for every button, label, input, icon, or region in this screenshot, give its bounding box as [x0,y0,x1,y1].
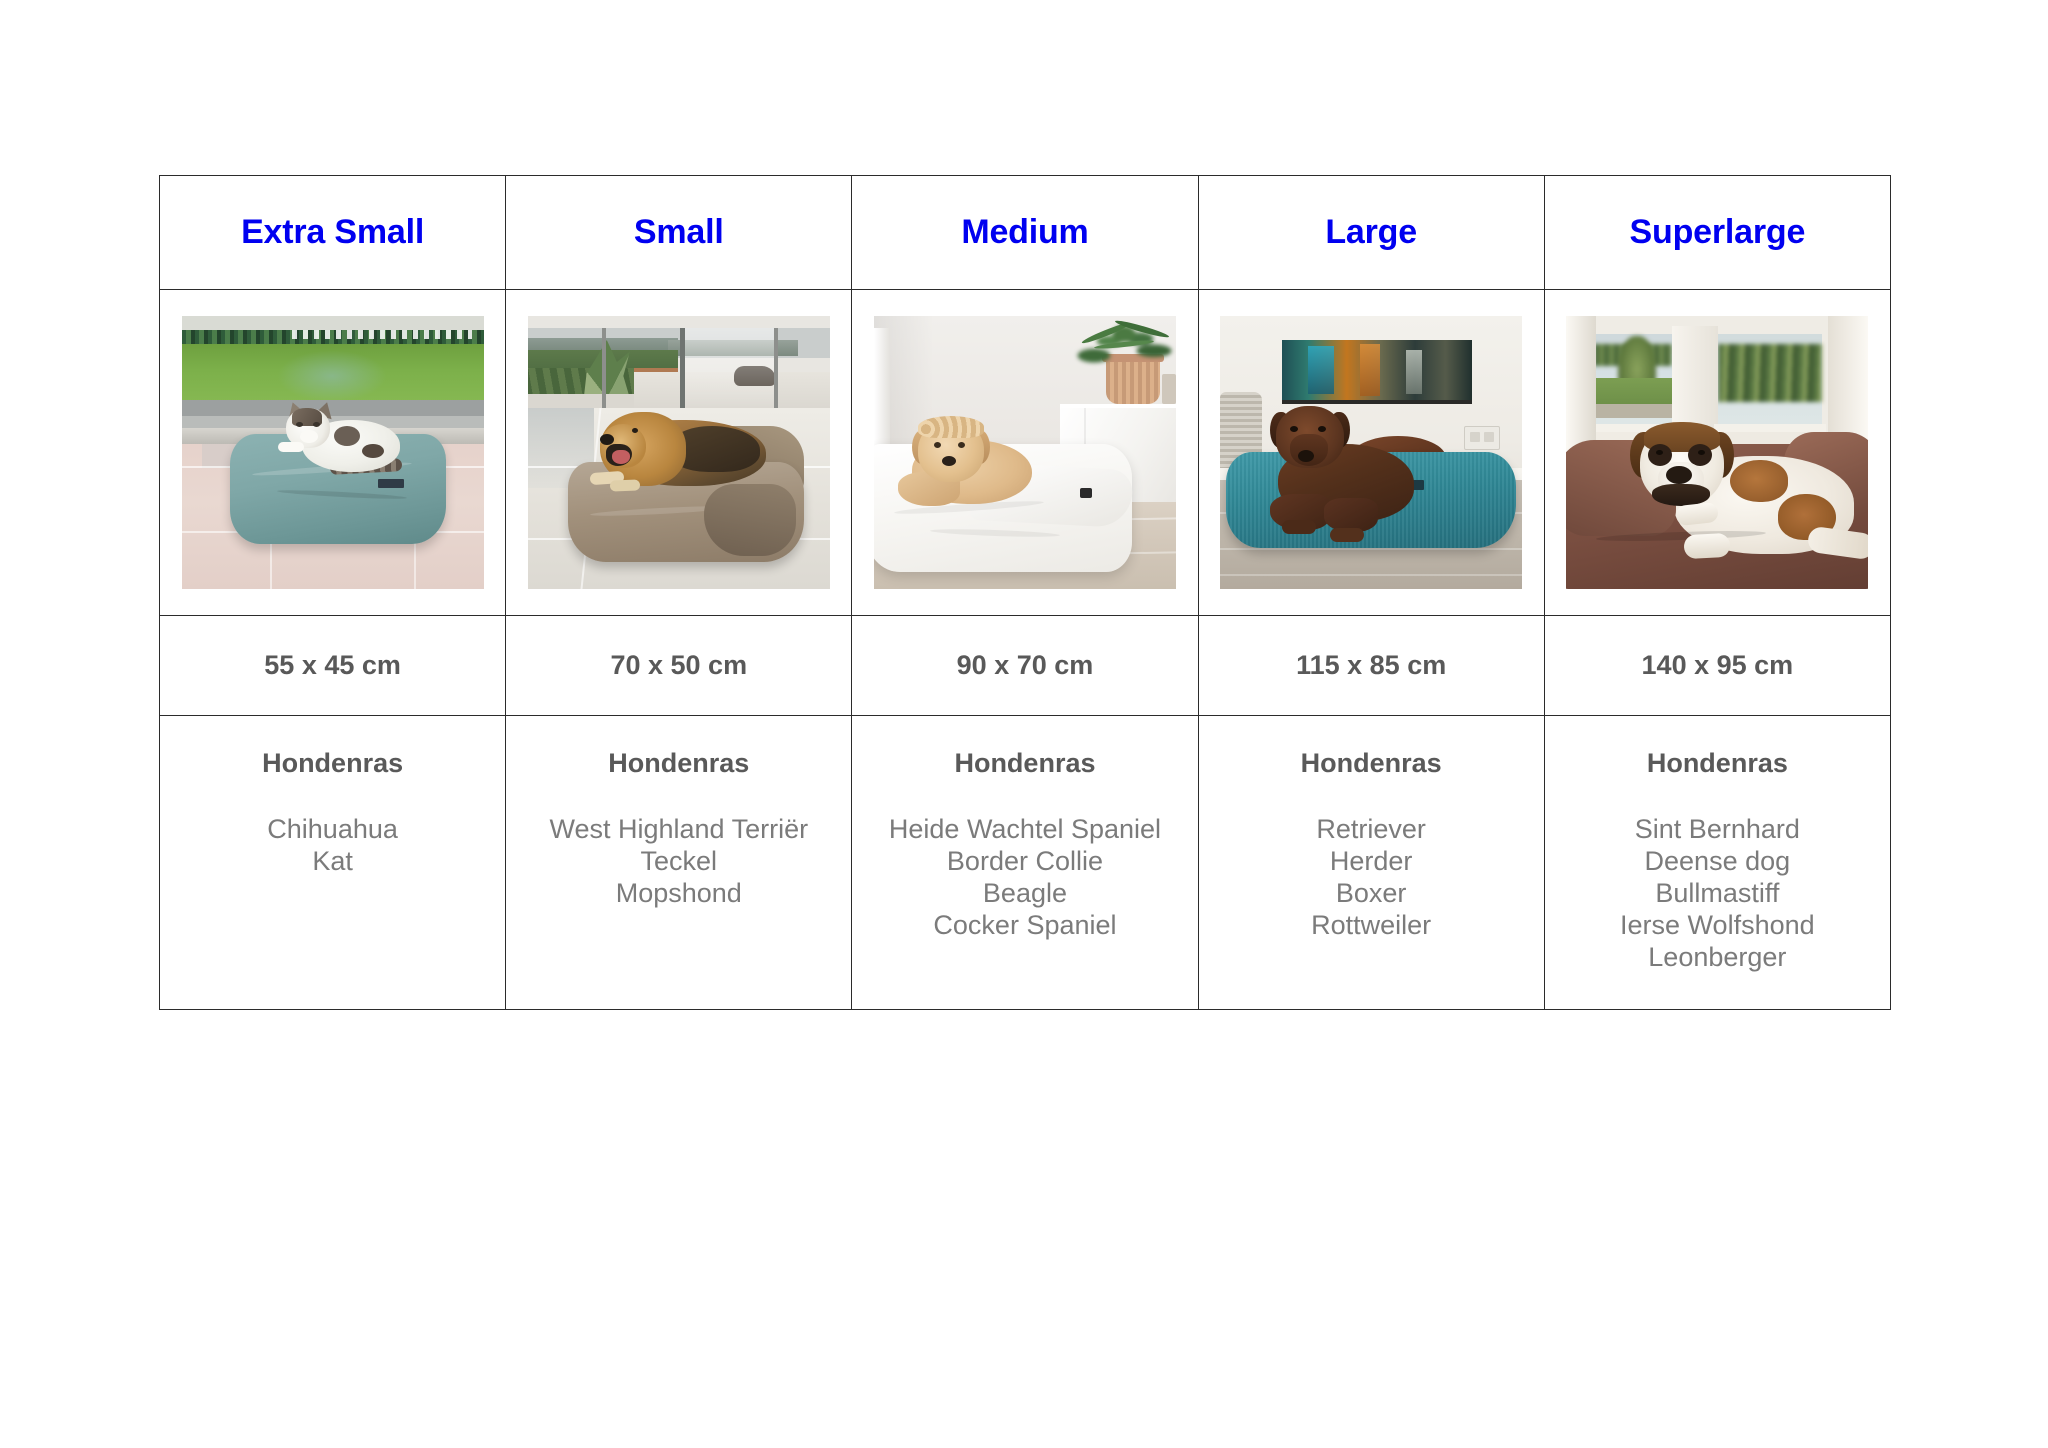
breeds-cell-small: Hondenras West Highland TerriërTeckelMop… [506,716,852,1010]
header-cell-inner: Small [506,176,851,289]
size-header-label: Extra Small [241,213,424,252]
breeds-cell-inner: Hondenras West Highland TerriërTeckelMop… [506,716,851,1009]
header-cell-large: Large [1198,176,1544,290]
dimension-cell-large: 115 x 85 cm [1198,616,1544,716]
breed-name: Rottweiler [1199,909,1544,941]
product-photo-large [1220,316,1522,589]
dimension-cell-small: 70 x 50 cm [506,616,852,716]
breeds-title: Hondenras [506,748,851,779]
header-cell-small: Small [506,176,852,290]
dimension-label: 70 x 50 cm [610,650,747,681]
breed-name: Sint Bernhard [1545,813,1890,845]
header-cell-extra-small: Extra Small [160,176,506,290]
breed-name: Chihuahua [160,813,505,845]
breed-name: Mopshond [506,877,851,909]
breed-list: ChihuahuaKat [160,813,505,877]
breeds-cell-superlarge: Hondenras Sint BernhardDeense dogBullmas… [1544,716,1890,1010]
breed-list: Heide Wachtel SpanielBorder CollieBeagle… [852,813,1197,941]
breeds-title: Hondenras [852,748,1197,779]
photo-cell-large [1198,290,1544,616]
dimension-cell-inner: 115 x 85 cm [1199,616,1544,715]
table-photo-row [160,290,1891,616]
breed-name: Heide Wachtel Spaniel [852,813,1197,845]
breeds-title: Hondenras [1199,748,1544,779]
breed-name: Retriever [1199,813,1544,845]
page-canvas: Extra Small Small Medium Large S [0,0,2048,1448]
breed-list: West Highland TerriërTeckelMopshond [506,813,851,909]
product-photo-extra-small [182,316,484,589]
size-header-label: Small [634,213,724,252]
breeds-cell-inner: Hondenras ChihuahuaKat [160,716,505,1009]
breeds-title: Hondenras [160,748,505,779]
dimension-cell-superlarge: 140 x 95 cm [1544,616,1890,716]
breed-name: Leonberger [1545,941,1890,973]
size-header-label: Large [1325,213,1417,252]
photo-cell-small [506,290,852,616]
breed-name: Boxer [1199,877,1544,909]
product-photo-small [528,316,830,589]
breeds-cell-extra-small: Hondenras ChihuahuaKat [160,716,506,1010]
dimension-cell-inner: 70 x 50 cm [506,616,851,715]
photo-cell-inner [506,290,851,615]
dimension-label: 90 x 70 cm [957,650,1094,681]
table-dimension-row: 55 x 45 cm 70 x 50 cm 90 x 70 cm 115 x 8… [160,616,1891,716]
dimension-cell-inner: 90 x 70 cm [852,616,1197,715]
dimension-label: 115 x 85 cm [1296,650,1446,681]
header-cell-inner: Large [1199,176,1544,289]
size-header-label: Medium [961,213,1088,252]
header-cell-inner: Superlarge [1545,176,1890,289]
photo-cell-inner [1199,290,1544,615]
breed-name: Kat [160,845,505,877]
breed-name: West Highland Terriër [506,813,851,845]
breed-name: Bullmastiff [1545,877,1890,909]
header-cell-inner: Medium [852,176,1197,289]
table-header-row: Extra Small Small Medium Large S [160,176,1891,290]
breed-name: Herder [1199,845,1544,877]
breeds-cell-inner: Hondenras Heide Wachtel SpanielBorder Co… [852,716,1197,1009]
breeds-cell-medium: Hondenras Heide Wachtel SpanielBorder Co… [852,716,1198,1010]
breed-name: Ierse Wolfshond [1545,909,1890,941]
photo-cell-medium [852,290,1198,616]
photo-cell-inner [160,290,505,615]
product-photo-superlarge [1566,316,1868,589]
photo-cell-superlarge [1544,290,1890,616]
breeds-title: Hondenras [1545,748,1890,779]
photo-cell-inner [852,290,1197,615]
dimension-cell-inner: 140 x 95 cm [1545,616,1890,715]
breeds-cell-inner: Hondenras RetrieverHerderBoxerRottweiler [1199,716,1544,1009]
dimension-cell-extra-small: 55 x 45 cm [160,616,506,716]
product-photo-medium [874,316,1176,589]
breed-name: Cocker Spaniel [852,909,1197,941]
breed-list: Sint BernhardDeense dogBullmastiffIerse … [1545,813,1890,973]
header-cell-medium: Medium [852,176,1198,290]
breeds-cell-inner: Hondenras Sint BernhardDeense dogBullmas… [1545,716,1890,1009]
header-cell-inner: Extra Small [160,176,505,289]
breed-name: Border Collie [852,845,1197,877]
dimension-label: 55 x 45 cm [264,650,401,681]
breed-name: Teckel [506,845,851,877]
dimension-cell-inner: 55 x 45 cm [160,616,505,715]
breed-name: Beagle [852,877,1197,909]
breed-name: Deense dog [1545,845,1890,877]
breed-list: RetrieverHerderBoxerRottweiler [1199,813,1544,941]
photo-cell-extra-small [160,290,506,616]
header-cell-superlarge: Superlarge [1544,176,1890,290]
dimension-label: 140 x 95 cm [1642,650,1794,681]
breeds-cell-large: Hondenras RetrieverHerderBoxerRottweiler [1198,716,1544,1010]
size-header-label: Superlarge [1630,213,1806,252]
dimension-cell-medium: 90 x 70 cm [852,616,1198,716]
table-breeds-row: Hondenras ChihuahuaKat Hondenras West Hi… [160,716,1891,1010]
photo-cell-inner [1545,290,1890,615]
dog-bed-size-table: Extra Small Small Medium Large S [159,175,1891,1010]
